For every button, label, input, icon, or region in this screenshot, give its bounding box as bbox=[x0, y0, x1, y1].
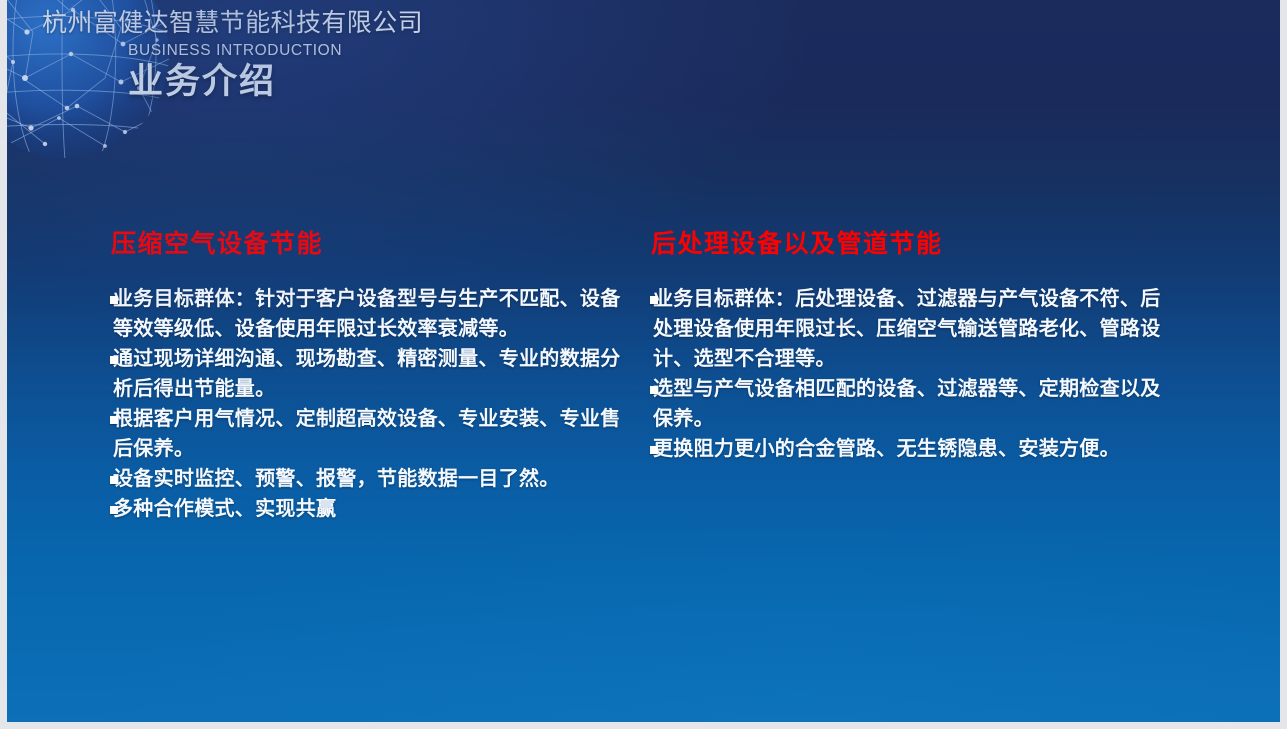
list-item: 多种合作模式、实现共赢 bbox=[107, 494, 632, 524]
bullet-list: 业务目标群体：后处理设备、过滤器与产气设备不符、后处理设备使用年限过长、压缩空气… bbox=[647, 284, 1167, 464]
column-post-treatment: 后处理设备以及管道节能 业务目标群体：后处理设备、过滤器与产气设备不符、后处理设… bbox=[647, 228, 1167, 464]
bullet-square-icon bbox=[110, 416, 118, 424]
list-item-text: 更换阻力更小的合金管路、无生锈隐患、安装方便。 bbox=[653, 434, 1167, 464]
list-item-text: 通过现场详细沟通、现场勘查、精密测量、专业的数据分析后得出节能量。 bbox=[113, 344, 632, 404]
column-compressed-air: 压缩空气设备节能 业务目标群体：针对于客户设备型号与生产不匹配、设备等效等级低、… bbox=[107, 228, 632, 524]
slide-header: 杭州富健达智慧节能科技有限公司 BUSINESS INTRODUCTION 业务… bbox=[42, 8, 742, 103]
list-item-text: 业务目标群体：针对于客户设备型号与生产不匹配、设备等效等级低、设备使用年限过长效… bbox=[113, 284, 632, 344]
slide-canvas: 杭州富健达智慧节能科技有限公司 BUSINESS INTRODUCTION 业务… bbox=[7, 0, 1280, 722]
page-title: 业务介绍 bbox=[128, 60, 742, 103]
list-item-text: 选型与产气设备相匹配的设备、过滤器等、定期检查以及保养。 bbox=[653, 374, 1167, 434]
list-item: 选型与产气设备相匹配的设备、过滤器等、定期检查以及保养。 bbox=[647, 374, 1167, 434]
section-subtitle-en: BUSINESS INTRODUCTION bbox=[128, 41, 742, 60]
bullet-square-icon bbox=[110, 506, 118, 514]
list-item-text: 多种合作模式、实现共赢 bbox=[113, 494, 632, 524]
list-item: 设备实时监控、预警、报警，节能数据一目了然。 bbox=[107, 464, 632, 494]
list-item-text: 设备实时监控、预警、报警，节能数据一目了然。 bbox=[113, 464, 632, 494]
bullet-square-icon bbox=[110, 476, 118, 484]
column-title: 后处理设备以及管道节能 bbox=[651, 228, 1167, 260]
column-title: 压缩空气设备节能 bbox=[111, 228, 632, 260]
bullet-square-icon bbox=[110, 356, 118, 364]
list-item: 业务目标群体：针对于客户设备型号与生产不匹配、设备等效等级低、设备使用年限过长效… bbox=[107, 284, 632, 344]
list-item: 更换阻力更小的合金管路、无生锈隐患、安装方便。 bbox=[647, 434, 1167, 464]
company-name: 杭州富健达智慧节能科技有限公司 bbox=[42, 8, 742, 39]
slide-frame: 杭州富健达智慧节能科技有限公司 BUSINESS INTRODUCTION 业务… bbox=[0, 0, 1287, 729]
list-item: 业务目标群体：后处理设备、过滤器与产气设备不符、后处理设备使用年限过长、压缩空气… bbox=[647, 284, 1167, 374]
list-item: 通过现场详细沟通、现场勘查、精密测量、专业的数据分析后得出节能量。 bbox=[107, 344, 632, 404]
list-item-text: 业务目标群体：后处理设备、过滤器与产气设备不符、后处理设备使用年限过长、压缩空气… bbox=[653, 284, 1167, 374]
bullet-square-icon bbox=[110, 296, 118, 304]
bullet-list: 业务目标群体：针对于客户设备型号与生产不匹配、设备等效等级低、设备使用年限过长效… bbox=[107, 284, 632, 524]
list-item: 根据客户用气情况、定制超高效设备、专业安装、专业售后保养。 bbox=[107, 404, 632, 464]
bullet-square-icon bbox=[650, 386, 658, 394]
bullet-square-icon bbox=[650, 446, 658, 454]
list-item-text: 根据客户用气情况、定制超高效设备、专业安装、专业售后保养。 bbox=[113, 404, 632, 464]
title-group: BUSINESS INTRODUCTION 业务介绍 bbox=[128, 41, 742, 103]
bullet-square-icon bbox=[650, 296, 658, 304]
